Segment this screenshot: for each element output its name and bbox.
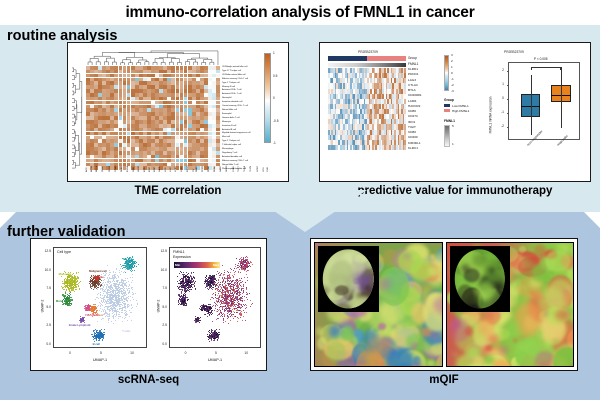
umap-point — [223, 279, 224, 280]
umap-point — [92, 283, 93, 284]
umap-point — [114, 294, 115, 295]
umap-point — [217, 290, 218, 291]
umap-point — [223, 275, 224, 276]
umap-point — [219, 290, 220, 291]
umap-point — [132, 270, 133, 271]
umap-point — [234, 309, 235, 310]
umap-point — [130, 300, 131, 301]
umap-point — [238, 263, 239, 264]
umap-point — [238, 318, 239, 319]
umap-point — [117, 280, 118, 281]
umap-celltype-label: Malignant cell — [89, 269, 107, 273]
tme-color-scale — [264, 53, 271, 143]
umap-point — [122, 312, 123, 313]
tme-row-label: Immature B cell — [222, 125, 286, 127]
umap-point — [128, 293, 129, 294]
umap-point — [126, 300, 127, 301]
umap-point — [237, 300, 238, 301]
umap-point — [135, 293, 136, 294]
umap-point — [93, 284, 94, 285]
umap-point — [111, 321, 112, 322]
umap-point — [98, 284, 99, 285]
umap-point — [87, 307, 88, 308]
umap-point — [249, 265, 250, 266]
umap-point — [125, 317, 126, 318]
umap-point — [63, 287, 64, 288]
umap-point — [92, 334, 93, 335]
umap-point — [221, 287, 222, 288]
umap-point — [230, 306, 231, 307]
pred-gene-label: CD274 — [408, 115, 440, 118]
umap-point — [223, 322, 224, 323]
umap-xtick: 10 — [130, 351, 134, 355]
umap-point — [247, 264, 248, 265]
umap-point — [111, 285, 112, 286]
umap-point — [231, 284, 232, 285]
umap-point — [122, 268, 123, 269]
umap-point — [103, 286, 104, 287]
umap-point — [118, 277, 119, 278]
tme-heatmap-grid — [86, 66, 220, 170]
umap-point — [98, 305, 99, 306]
umap-point — [213, 305, 214, 306]
umap-point — [224, 270, 225, 271]
umap-point — [240, 264, 241, 265]
umap-point — [120, 268, 121, 269]
tme-row-label: Mast cell — [222, 136, 286, 138]
umap-point — [233, 270, 234, 271]
umap-point — [108, 316, 109, 317]
umap-point — [219, 307, 220, 308]
umap-point — [100, 286, 101, 287]
umap-point — [112, 290, 113, 291]
umap-point — [234, 308, 235, 309]
umap-point — [227, 313, 228, 314]
umap-point — [94, 336, 95, 337]
umap-point — [99, 279, 100, 280]
umap-point — [131, 320, 132, 321]
umap-point — [99, 310, 100, 311]
umap-point — [116, 315, 117, 316]
boxplot-ytick-mark — [507, 71, 510, 72]
umap-point — [244, 300, 245, 301]
umap-point — [78, 277, 79, 278]
umap-point — [96, 337, 97, 338]
umap-point — [215, 295, 216, 296]
umap-point — [84, 320, 85, 321]
umap-point — [218, 273, 219, 274]
umap-point — [246, 297, 247, 298]
legend-fmnl1-min-tick: 1 — [452, 142, 454, 146]
umap-point — [109, 316, 110, 317]
umap-point — [242, 298, 243, 299]
legend-swatch-high — [444, 109, 450, 113]
tme-column-labels: ACCBLCABRCACESCCHOLCOADDLBCESCAGBMHNSCKI… — [86, 171, 220, 182]
umap-point — [125, 272, 126, 273]
umap-point — [66, 289, 67, 290]
umap-point — [232, 275, 233, 276]
umap-point — [237, 321, 238, 322]
umap-point — [114, 278, 115, 279]
umap-point — [130, 270, 131, 271]
umap-point — [116, 286, 117, 287]
umap-point — [215, 308, 216, 309]
boxplot-frame — [508, 62, 580, 140]
umap-point — [124, 267, 125, 268]
umap-point — [65, 287, 66, 288]
umap-point — [124, 290, 125, 291]
umap-point — [128, 304, 129, 305]
umap-point — [123, 297, 124, 298]
umap-point — [126, 266, 127, 267]
umap-point — [237, 288, 238, 289]
umap-point — [71, 304, 72, 305]
umap-point — [247, 267, 248, 268]
umap-point — [126, 294, 127, 295]
umap-point — [94, 310, 95, 311]
umap-point — [114, 284, 115, 285]
umap-point — [115, 310, 116, 311]
umap-point — [216, 274, 217, 275]
predictive-heatmap-title: PRJEB23709 — [358, 50, 378, 54]
umap-point — [118, 294, 119, 295]
umap-point — [138, 264, 139, 265]
umap-point — [231, 281, 232, 282]
umap-point — [94, 312, 95, 313]
tme-row-dendrogram — [72, 66, 85, 170]
umap-point — [109, 315, 110, 316]
umap-point — [120, 316, 121, 317]
umap-point — [122, 310, 123, 311]
umap-point — [108, 290, 109, 291]
umap-point — [122, 294, 123, 295]
page-title: immuno-correlation analysis of FMNL1 in … — [125, 4, 474, 22]
umap-point — [124, 280, 125, 281]
umap-point — [245, 304, 246, 305]
umap-point — [94, 338, 95, 339]
umap-point — [242, 293, 243, 294]
umap-point — [106, 284, 107, 285]
umap-point — [86, 309, 87, 310]
umap-point — [97, 321, 98, 322]
umap-point — [125, 306, 126, 307]
umap-point — [234, 302, 235, 303]
umap-point — [80, 320, 81, 321]
umap-point — [225, 321, 226, 322]
umap-point — [65, 292, 66, 293]
umap-point — [241, 257, 242, 258]
umap-point — [79, 282, 80, 283]
boxplot-ytick-mark — [507, 113, 510, 114]
umap-point — [111, 278, 112, 279]
umap-point — [230, 316, 231, 317]
umap-point — [113, 271, 114, 272]
umap-point — [242, 296, 243, 297]
umap-point — [102, 335, 103, 336]
umap-point — [219, 302, 220, 303]
umap-point — [92, 310, 93, 311]
umap-point — [99, 338, 100, 339]
umap-point — [116, 284, 117, 285]
tme-row-label: Activated dendritic cell — [222, 156, 286, 158]
umap-point — [106, 297, 107, 298]
umap-point — [113, 318, 114, 319]
umap-point — [223, 297, 224, 298]
umap-point — [124, 271, 125, 272]
umap-point — [119, 312, 120, 313]
umap-point — [136, 266, 137, 267]
tme-row-label: Type 17 T helper cell — [222, 70, 286, 72]
umap-point — [110, 272, 111, 273]
umap-point — [113, 316, 114, 317]
umap-point — [111, 301, 112, 302]
annot-label-group: Group — [408, 56, 417, 60]
umap-point — [133, 299, 134, 300]
umap-point — [127, 297, 128, 298]
pred-colorbar-tick: -3 — [451, 89, 454, 93]
umap-point — [223, 319, 224, 320]
umap-point — [125, 278, 126, 279]
umap-point — [104, 290, 105, 291]
tme-row-label: Activated B cell — [222, 129, 286, 131]
umap-point — [103, 318, 104, 319]
umap-point — [119, 291, 120, 292]
umap-point — [69, 285, 70, 286]
umap-point — [113, 299, 114, 300]
umap-point — [108, 309, 109, 310]
umap-point — [119, 287, 120, 288]
umap-point — [239, 313, 240, 314]
umap-point — [241, 282, 242, 283]
umap-point — [111, 303, 112, 304]
umap-point — [212, 306, 213, 307]
umap-point — [102, 298, 103, 299]
umap-point — [124, 288, 125, 289]
umap-fmnl1-expression: UMAP-2 FMNL1 Expression Min Max UMAP-1 1… — [153, 245, 263, 366]
umap-point — [90, 306, 91, 307]
umap-point — [247, 261, 248, 262]
umap-point — [119, 272, 120, 273]
umap-point — [229, 314, 230, 315]
umap-point — [98, 287, 99, 288]
umap-point — [61, 276, 62, 277]
umap-point — [117, 309, 118, 310]
pred-gene-label: CD200R1 — [408, 94, 440, 97]
umap-point — [219, 277, 220, 278]
umap-point — [225, 310, 226, 311]
umap-point — [130, 277, 131, 278]
umap-point — [118, 316, 119, 317]
umap-point — [235, 266, 236, 267]
umap-point — [104, 302, 105, 303]
umap-point — [247, 263, 248, 264]
tme-row-label: Effector memory CD8+ T cell — [222, 160, 286, 162]
umap-point — [116, 281, 117, 282]
umap-point — [130, 312, 131, 313]
umap-point — [115, 277, 116, 278]
tme-row-label: Type 2 T helper cell — [222, 140, 286, 142]
umap-point — [218, 318, 219, 319]
umap-point — [100, 294, 101, 295]
umap-point — [110, 294, 111, 295]
umap-point — [247, 299, 248, 300]
umap-point — [64, 279, 65, 280]
umap-point — [126, 262, 127, 263]
umap-point — [132, 280, 133, 281]
umap-point — [68, 288, 69, 289]
tme-row-label: Activated CD8+ T cell — [222, 89, 286, 91]
umap-point — [109, 295, 110, 296]
umap-point — [93, 289, 94, 290]
umap-point — [131, 312, 132, 313]
umap-point — [234, 268, 235, 269]
predictive-boxplot: FMNL1 mRNA expression 210-1-2non-respond… — [488, 56, 584, 174]
umap-point — [95, 304, 96, 305]
umap-point — [104, 309, 105, 310]
umap-celltype-label: T cells — [122, 329, 130, 333]
umap-point — [118, 287, 119, 288]
umap-point — [241, 307, 242, 308]
umap-point — [103, 297, 104, 298]
boxplot-ytick-mark — [507, 99, 510, 100]
umap-point — [129, 305, 130, 306]
umap-point — [97, 330, 98, 331]
pred-gene-label: KLRD1 — [408, 68, 440, 71]
umap-point — [121, 285, 122, 286]
umap-point — [224, 283, 225, 284]
umap-point — [101, 319, 102, 320]
umap-point — [244, 267, 245, 268]
umap-point — [112, 311, 113, 312]
umap-point — [229, 274, 230, 275]
tme-scale-tick: -1 — [273, 141, 276, 145]
umap-point — [64, 303, 65, 304]
umap-point — [218, 293, 219, 294]
umap-point — [243, 269, 244, 270]
umap-point — [128, 288, 129, 289]
umap-point — [131, 287, 132, 288]
umap-point — [127, 289, 128, 290]
umap-point — [96, 338, 97, 339]
umap-point — [67, 284, 68, 285]
umap-ytick: 5.0 — [40, 305, 51, 309]
umap-point — [217, 311, 218, 312]
umap-point — [217, 295, 218, 296]
umap-point — [242, 261, 243, 262]
umap-point — [92, 286, 93, 287]
umap-celltype-label: Innate Lymphoid — [69, 323, 91, 327]
tme-row-label: Eosinophil — [222, 113, 286, 115]
umap-point — [93, 306, 94, 307]
group-high-bar — [367, 56, 406, 61]
pred-gene-label: TIGIT — [408, 126, 440, 129]
umap-point — [90, 280, 91, 281]
umap-point — [127, 301, 128, 302]
tme-row-label: Effector memory CD4+ T cell — [222, 78, 286, 80]
pred-colorbar-tick: -2 — [451, 83, 454, 87]
umap-point — [240, 262, 241, 263]
umap-point — [119, 290, 120, 291]
umap-point — [120, 304, 121, 305]
umap-point — [215, 297, 216, 298]
umap-point — [238, 290, 239, 291]
umap-point — [123, 307, 124, 308]
umap-point — [84, 322, 85, 323]
umap-point — [68, 305, 69, 306]
umap-point — [247, 259, 248, 260]
umap-point — [243, 310, 244, 311]
umap-point — [246, 305, 247, 306]
umap-point — [123, 267, 124, 268]
umap-point — [245, 267, 246, 268]
umap-point — [212, 321, 213, 322]
umap-celltype-label: NK cell — [123, 257, 132, 261]
umap-point — [117, 289, 118, 290]
umap-point — [107, 281, 108, 282]
umap-point — [227, 318, 228, 319]
boxplot-ylabel: FMNL1 mRNA expression — [488, 97, 492, 134]
umap-point — [98, 285, 99, 286]
umap-point — [94, 330, 95, 331]
umap-point — [105, 274, 106, 275]
umap-point — [247, 257, 248, 258]
umap-point — [237, 284, 238, 285]
umap-point — [227, 287, 228, 288]
pred-gene-label: LAG3 — [408, 79, 440, 82]
umap-point — [76, 287, 77, 288]
umap-point — [228, 297, 229, 298]
umap-point — [109, 313, 110, 314]
umap-point — [109, 310, 110, 311]
umap-point — [79, 289, 80, 290]
umap-point — [67, 298, 68, 299]
umap-point — [101, 288, 102, 289]
umap-right-title-gene: FMNL1 — [173, 250, 185, 254]
umap-point — [108, 306, 109, 307]
umap-point — [68, 295, 69, 296]
umap-point — [244, 260, 245, 261]
umap-point — [243, 288, 244, 289]
umap-point — [126, 286, 127, 287]
umap-point — [103, 338, 104, 339]
umap-point — [95, 283, 96, 284]
umap-point — [250, 262, 251, 263]
tme-scale-tick: 0.5 — [273, 74, 277, 78]
umap-point — [99, 333, 100, 334]
umap-point — [66, 283, 67, 284]
umap-point — [233, 287, 234, 288]
umap-point — [131, 308, 132, 309]
umap-point — [217, 271, 218, 272]
umap-point — [122, 284, 123, 285]
umap-point — [128, 264, 129, 265]
legend-fmnl1-max-tick: 5 — [452, 124, 454, 128]
umap-point — [246, 274, 247, 275]
umap-point — [131, 269, 132, 270]
umap-point — [104, 285, 105, 286]
umap-point — [129, 269, 130, 270]
umap-left-frame: Cell type NK cellT cellsMalignant cellHP… — [53, 247, 147, 348]
umap-point — [115, 274, 116, 275]
expression-gradient-legend: Min Max — [174, 262, 220, 268]
umap-point — [98, 279, 99, 280]
umap-point — [125, 310, 126, 311]
umap-ytick: 7.5 — [40, 286, 51, 290]
umap-point — [123, 272, 124, 273]
umap-point — [242, 266, 243, 267]
umap-point — [96, 286, 97, 287]
umap-point — [119, 298, 120, 299]
